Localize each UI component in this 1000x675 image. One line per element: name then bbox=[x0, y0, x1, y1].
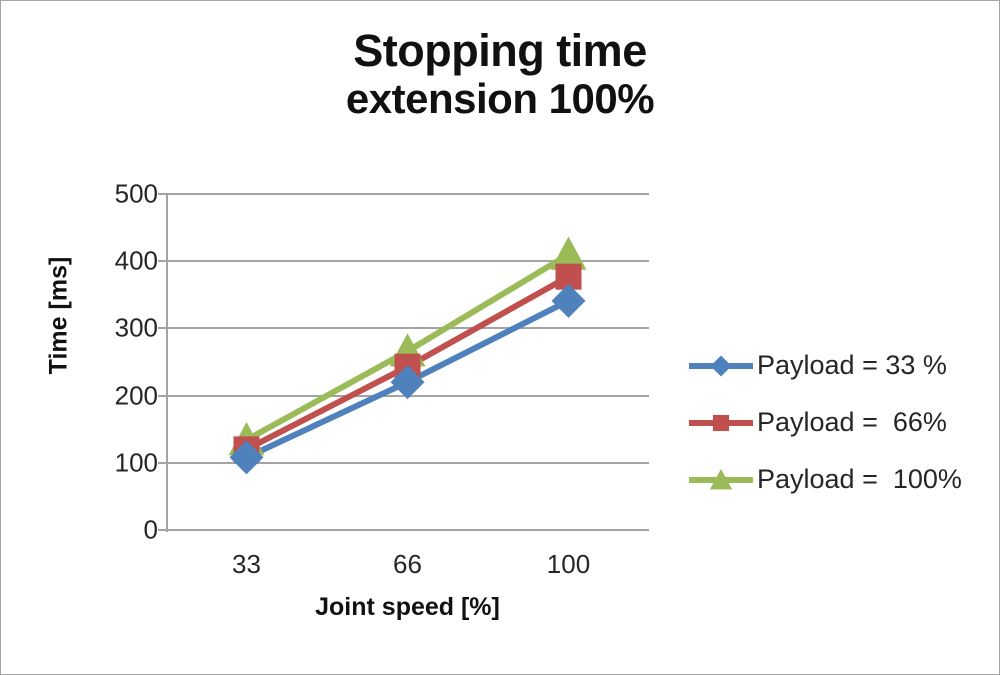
x-axis-tick-label: 100 bbox=[547, 549, 590, 580]
chart-legend: Payload = 33 %Payload = 66%Payload = 100… bbox=[687, 337, 987, 508]
legend-marker-icon bbox=[687, 351, 755, 381]
y-axis-tick-label: 400 bbox=[92, 246, 158, 277]
legend-label: Payload = 66% bbox=[757, 407, 947, 438]
y-axis-tick-label: 200 bbox=[92, 380, 158, 411]
series-plot bbox=[166, 194, 649, 530]
x-axis-title: Joint speed [%] bbox=[166, 593, 649, 622]
y-axis-tick-mark bbox=[158, 462, 166, 464]
x-axis-tick-label: 66 bbox=[393, 549, 422, 580]
y-axis-tick-mark bbox=[158, 529, 166, 531]
y-axis-tick-mark bbox=[158, 260, 166, 262]
y-axis-tick-label: 300 bbox=[92, 313, 158, 344]
legend-marker-icon bbox=[687, 408, 755, 438]
y-axis-title: Time [ms] bbox=[45, 246, 74, 386]
chart-title: Stopping time extension 100% bbox=[1, 27, 999, 121]
y-axis-tick-labels: 5004003002001000 bbox=[84, 194, 158, 530]
legend-item[interactable]: Payload = 100% bbox=[687, 451, 987, 508]
data-point-marker bbox=[713, 414, 729, 430]
y-axis-tick-label: 0 bbox=[92, 515, 158, 546]
x-axis-tick-labels: 3366100 bbox=[166, 549, 649, 585]
legend-label: Payload = 33 % bbox=[757, 350, 947, 381]
y-axis-tick-label: 100 bbox=[92, 447, 158, 478]
chart-title-line-2: extension 100% bbox=[1, 76, 999, 121]
y-axis-tick-mark bbox=[158, 193, 166, 195]
x-axis-tick-label: 33 bbox=[232, 549, 261, 580]
legend-item[interactable]: Payload = 33 % bbox=[687, 337, 987, 394]
chart-container: Stopping time extension 100% 50040030020… bbox=[0, 0, 1000, 675]
y-axis-tick-mark bbox=[158, 327, 166, 329]
y-axis-tick-mark bbox=[158, 395, 166, 397]
legend-item[interactable]: Payload = 66% bbox=[687, 394, 987, 451]
data-point-marker bbox=[710, 355, 731, 376]
legend-label: Payload = 100% bbox=[757, 464, 962, 495]
y-axis-tick-label: 500 bbox=[92, 179, 158, 210]
chart-title-line-1: Stopping time bbox=[1, 27, 999, 76]
legend-marker-icon bbox=[687, 465, 755, 495]
